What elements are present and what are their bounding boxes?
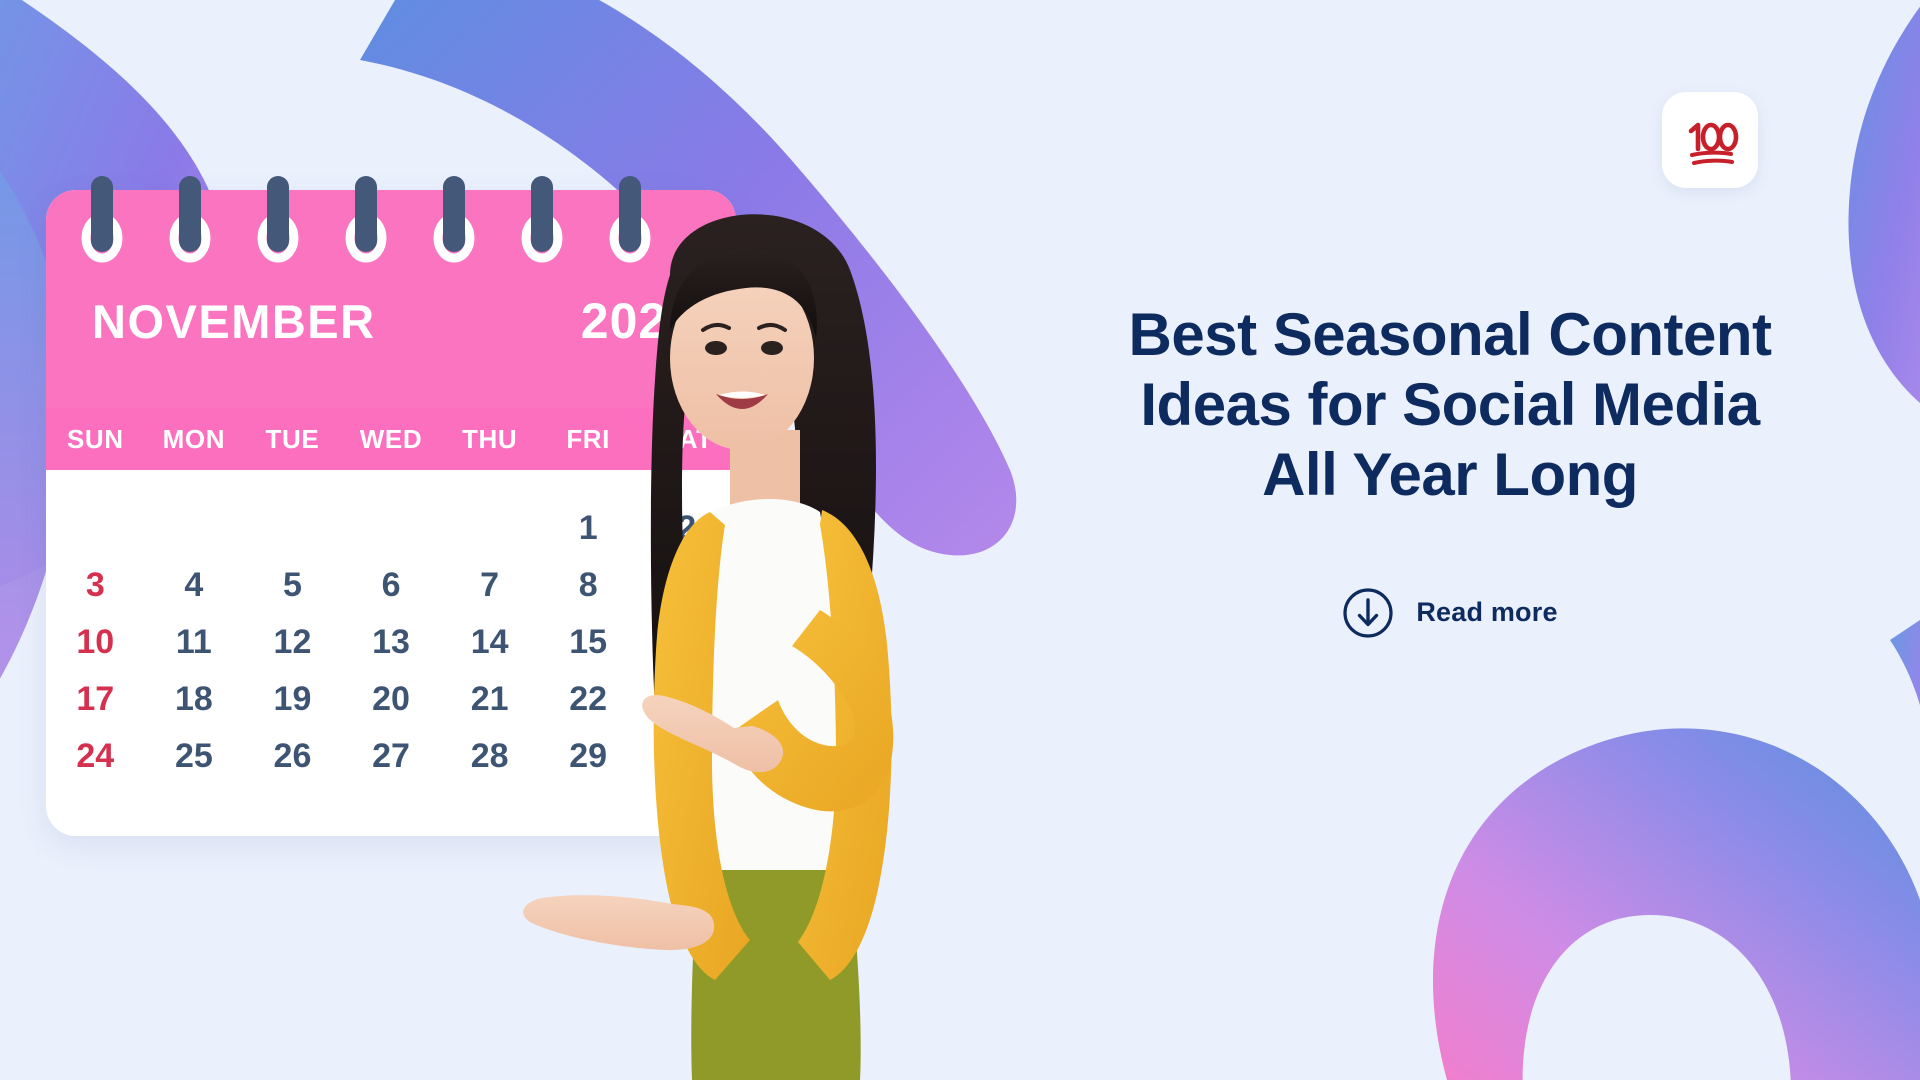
hundred-points-badge bbox=[1662, 92, 1758, 188]
woman-pointing-photo bbox=[520, 180, 1040, 1080]
page-title: Best Seasonal Content Ideas for Social M… bbox=[1105, 300, 1795, 511]
date-cell: 12 bbox=[243, 623, 342, 662]
date-cell: 10 bbox=[46, 623, 145, 662]
date-cell: 4 bbox=[145, 566, 244, 605]
date-cell: 24 bbox=[46, 737, 145, 776]
content-column: Best Seasonal Content Ideas for Social M… bbox=[1105, 300, 1795, 639]
date-cell: 19 bbox=[243, 680, 342, 719]
date-cell: 11 bbox=[145, 623, 244, 662]
weekday-wed: WED bbox=[342, 424, 441, 455]
weekday-mon: MON bbox=[145, 424, 244, 455]
date-cell: 3 bbox=[46, 566, 145, 605]
hundred-points-emoji bbox=[1679, 109, 1741, 171]
date-cell: 20 bbox=[342, 680, 441, 719]
circle-arrow-down-icon[interactable] bbox=[1342, 587, 1394, 639]
read-more-button[interactable]: Read more bbox=[1105, 587, 1795, 639]
calendar-spiral-binding bbox=[46, 176, 736, 296]
date-cell: 5 bbox=[243, 566, 342, 605]
date-cell: 27 bbox=[342, 737, 441, 776]
date-cell: 13 bbox=[342, 623, 441, 662]
date-cell: 17 bbox=[46, 680, 145, 719]
weekday-sun: SUN bbox=[46, 424, 145, 455]
date-cell: 25 bbox=[145, 737, 244, 776]
read-more-label[interactable]: Read more bbox=[1416, 597, 1557, 628]
date-cell: 18 bbox=[145, 680, 244, 719]
date-cell: 6 bbox=[342, 566, 441, 605]
banner-canvas: NOVEMBER 2024 SUN MON TUE WED THU FRI SA… bbox=[0, 0, 1920, 1080]
weekday-tue: TUE bbox=[243, 424, 342, 455]
date-cell: 26 bbox=[243, 737, 342, 776]
calendar-month-label: NOVEMBER bbox=[92, 298, 376, 345]
